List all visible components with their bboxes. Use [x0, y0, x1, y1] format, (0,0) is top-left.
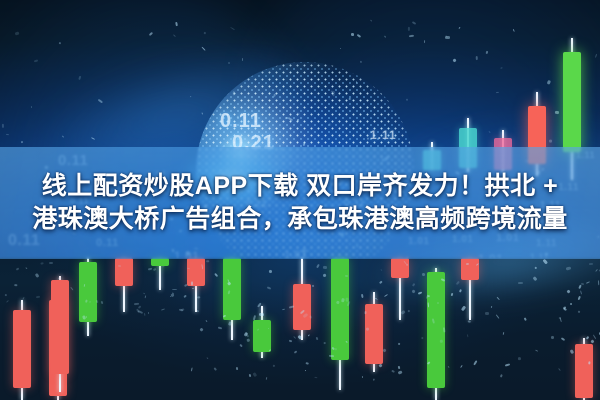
globe-number: 1.11 — [370, 128, 397, 142]
headline-line-1: 线上配资炒股APP下载 双口岸齐发力！拱北 + — [42, 172, 558, 201]
headline-line-2: 港珠澳大桥广告组合，承包珠港澳高频跨境流量 — [32, 205, 568, 234]
promo-banner: 0.110.110.111.111.111.011.010.211.010.11… — [0, 0, 600, 400]
globe-number: 0.11 — [220, 110, 262, 133]
headline-block: 线上配资炒股APP下载 双口岸齐发力！拱北 + 港珠澳大桥广告组合，承包珠港澳高… — [0, 150, 600, 256]
